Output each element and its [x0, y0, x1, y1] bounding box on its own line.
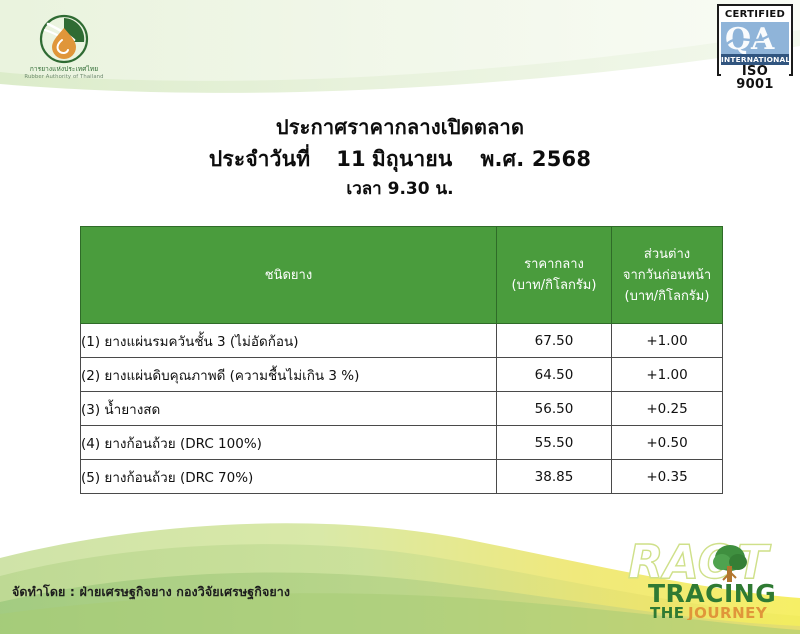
cell-rubber-type: (1) ยางแผ่นรมควันชั้น 3 (ไม่อัดก้อน) [81, 324, 497, 358]
announcement-date-line: ประจำวันที่11มิถุนายนพ.ศ. 2568 [0, 142, 800, 176]
price-announcement-page: การยางแห่งประเทศไทย Rubber Authority of … [0, 0, 800, 634]
cell-price-difference: +0.50 [612, 426, 723, 460]
table-row: (3) น้ำยางสด 56.50 +0.25 [81, 392, 723, 426]
cell-middle-price: 64.50 [497, 358, 612, 392]
header-diff-line1: ส่วนต่าง [612, 244, 722, 265]
table-row: (2) ยางแผ่นดิบคุณภาพดี (ความชื้นไม่เกิน … [81, 358, 723, 392]
top-wave-decoration [0, 0, 800, 112]
cell-middle-price: 38.85 [497, 460, 612, 494]
tracing-logo-journey-text: JOURNEY [687, 604, 768, 620]
date-year-value: พ.ศ. 2568 [480, 147, 591, 171]
cell-price-difference: +0.25 [612, 392, 723, 426]
date-day-value: 11 [310, 147, 372, 171]
table-row: (4) ยางก้อนถ้วย (DRC 100%) 55.50 +0.50 [81, 426, 723, 460]
rubber-price-table: ชนิดยาง ราคากลาง (บาท/กิโลกรัม) ส่วนต่าง… [80, 226, 723, 494]
date-month-value: มิถุนายน [372, 147, 481, 171]
cell-rubber-type: (2) ยางแผ่นดิบคุณภาพดี (ความชื้นไม่เกิน … [81, 358, 497, 392]
emblem-caption-thai: การยางแห่งประเทศไทย [18, 66, 110, 73]
iso-standard-label: ISO 9001 [721, 65, 789, 78]
emblem-caption-english: Rubber Authority of Thailand [18, 75, 110, 81]
qa-mark-icon: Q A [721, 22, 789, 54]
cell-middle-price: 67.50 [497, 324, 612, 358]
table-header-row: ชนิดยาง ราคากลาง (บาท/กิโลกรัม) ส่วนต่าง… [81, 227, 723, 324]
column-header-difference: ส่วนต่าง จากวันก่อนหน้า (บาท/กิโลกรัม) [612, 227, 723, 324]
page-title: ประกาศราคากลางเปิดตลาด [0, 112, 800, 142]
footer-credit-text: จัดทำโดย : ฝ่ายเศรษฐกิจยาง กองวิจัยเศรษฐ… [12, 582, 290, 602]
header-diff-line3: (บาท/กิโลกรัม) [612, 286, 722, 307]
cell-rubber-type: (3) น้ำยางสด [81, 392, 497, 426]
header-diff-line2: จากวันก่อนหน้า [612, 265, 722, 286]
iso-9001-certification-badge: CERTIFIED Q A INTERNATIONAL ISO 9001 [717, 4, 793, 76]
raot-tracing-logo: RAOT TRACING THE JOURNEY [626, 534, 794, 620]
column-header-middle-price: ราคากลาง (บาท/กิโลกรัม) [497, 227, 612, 324]
header-type-label: ชนิดยาง [81, 265, 496, 286]
cell-price-difference: +1.00 [612, 324, 723, 358]
announcement-time: เวลา 9.30 น. [0, 176, 800, 202]
announcement-title-block: ประกาศราคากลางเปิดตลาด ประจำวันที่11มิถุ… [0, 112, 800, 202]
header-price-line1: ราคากลาง [497, 254, 611, 275]
table-row: (1) ยางแผ่นรมควันชั้น 3 (ไม่อัดก้อน) 67.… [81, 324, 723, 358]
cell-price-difference: +1.00 [612, 358, 723, 392]
column-header-rubber-type: ชนิดยาง [81, 227, 497, 324]
cell-rubber-type: (5) ยางก้อนถ้วย (DRC 70%) [81, 460, 497, 494]
tracing-logo-the-text: THE [650, 604, 685, 620]
date-prefix-label: ประจำวันที่ [209, 147, 310, 171]
cell-rubber-type: (4) ยางก้อนถ้วย (DRC 100%) [81, 426, 497, 460]
header-price-line2: (บาท/กิโลกรัม) [497, 275, 611, 296]
raot-emblem-icon [18, 14, 110, 66]
iso-certified-label: CERTIFIED [721, 8, 789, 22]
cell-middle-price: 56.50 [497, 392, 612, 426]
table-row: (5) ยางก้อนถ้วย (DRC 70%) 38.85 +0.35 [81, 460, 723, 494]
raot-organization-logo: การยางแห่งประเทศไทย Rubber Authority of … [18, 14, 110, 88]
svg-text:Q: Q [725, 22, 751, 54]
cell-middle-price: 55.50 [497, 426, 612, 460]
cell-price-difference: +0.35 [612, 460, 723, 494]
